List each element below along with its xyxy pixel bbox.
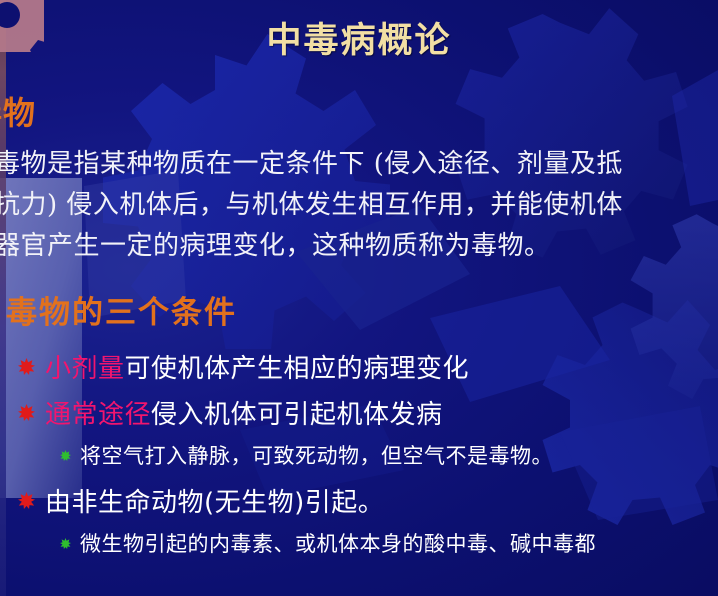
bullet-item-3: 由非生命动物(无生物)引起。	[18, 482, 384, 519]
bullet-1-highlight: 小剂量	[45, 348, 125, 385]
sub-bullet-item-1: 将空气打入静脉，可致死动物，但空气不是毒物。	[60, 440, 553, 470]
bullet-2-highlight: 通常途径	[45, 394, 151, 431]
bullet-item-2: 通常途径侵入机体可引起机体发病	[18, 394, 443, 431]
red-starburst-icon	[18, 404, 35, 421]
sub-bullet-2-text: 微生物引起的内毒素、或机体本身的酸中毒、碱中毒都	[80, 528, 596, 558]
bullet-3-text: 由非生命动物(无生物)引起。	[45, 482, 384, 519]
bullet-item-1: 小剂量可使机体产生相应的病理变化	[18, 348, 469, 385]
green-starburst-icon	[60, 450, 71, 461]
sub-bullet-1-text: 将空气打入静脉，可致死动物，但空气不是毒物。	[80, 440, 553, 470]
bullet-2-text: 侵入机体可引起机体发病	[151, 394, 443, 431]
definition-line-3: 器官产生一定的病理变化，这种物质称为毒物。	[0, 226, 718, 267]
red-starburst-icon	[18, 492, 35, 509]
slide-title: 中毒病概论	[0, 12, 718, 63]
section-heading-conditions: 毒物的三个条件	[6, 287, 237, 332]
red-starburst-icon	[18, 358, 35, 375]
bullet-1-text: 可使机体产生相应的病理变化	[125, 348, 470, 385]
sub-bullet-item-2: 微生物引起的内毒素、或机体本身的酸中毒、碱中毒都	[60, 528, 596, 558]
section-heading-toxin: 毒物	[0, 88, 36, 134]
definition-paragraph: 毒物是指某种物质在一定条件下 (侵入途径、剂量及抵 抗力) 侵入机体后，与机体发…	[0, 144, 718, 267]
green-starburst-icon	[60, 538, 71, 549]
definition-line-2: 抗力) 侵入机体后，与机体发生相互作用，并能使机体	[0, 185, 718, 226]
definition-line-1: 毒物是指某种物质在一定条件下 (侵入途径、剂量及抵	[0, 144, 718, 185]
slide-canvas: 中毒病概论 毒物 毒物是指某种物质在一定条件下 (侵入途径、剂量及抵 抗力) 侵…	[0, 0, 718, 596]
